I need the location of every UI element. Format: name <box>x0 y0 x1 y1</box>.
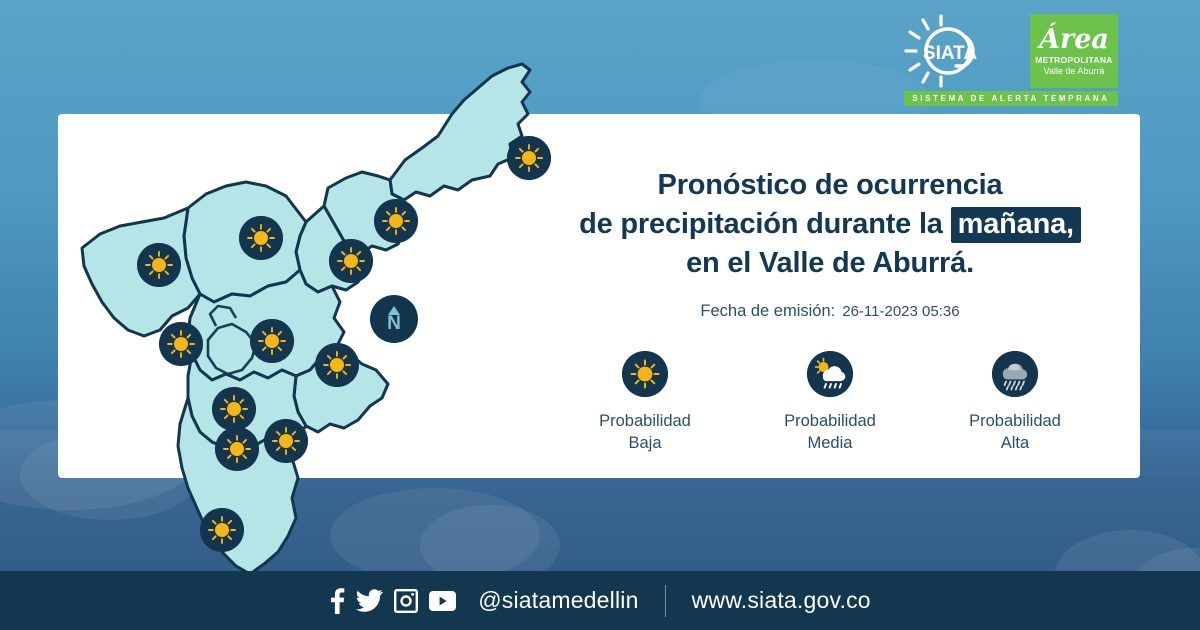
legend-item-media: Probabilidad Media <box>738 351 923 455</box>
footer-divider <box>665 585 666 617</box>
logo-group: SIATA Área METROPOLITANA Valle de Aburrá <box>904 14 1118 88</box>
siata-logo: SIATA <box>904 14 1024 88</box>
area-line1-label: METROPOLITANA <box>1035 56 1112 65</box>
forecast-panel: Pronóstico de ocurrencia de precipitació… <box>520 126 1140 476</box>
area-script-label: Área <box>1039 26 1109 53</box>
legend-item-baja: Probabilidad Baja <box>553 351 738 455</box>
youtube-icon[interactable] <box>429 591 456 611</box>
siata-wordmark: SIATA <box>923 43 977 64</box>
headline-line-1: Pronóstico de ocurrencia <box>520 166 1140 205</box>
headline-line-2: de precipitación durante la mañana, <box>520 205 1140 244</box>
emission-value: 26-11-2023 05:36 <box>842 303 959 320</box>
emission-date: Fecha de emisión: 26-11-2023 05:36 <box>520 302 1140 321</box>
footer-bar: @siatamedellin www.siata.gov.co <box>0 571 1200 630</box>
area-line2-label: Valle de Aburrá <box>1044 66 1105 76</box>
sun-icon <box>622 351 668 397</box>
social-handle[interactable]: @siatamedellin <box>478 587 638 614</box>
twitter-icon[interactable] <box>356 589 383 612</box>
legend-label-alta: Probabilidad Alta <box>969 410 1061 455</box>
headline-line-3: en el Valle de Aburrá. <box>520 244 1140 283</box>
probability-legend: Probabilidad Baja <box>520 351 1140 455</box>
legend-item-alta: Probabilidad Alta <box>923 351 1108 455</box>
website-url[interactable]: www.siata.gov.co <box>692 587 871 614</box>
social-links[interactable] <box>329 588 456 614</box>
area-metropolitana-logo: Área METROPOLITANA Valle de Aburrá <box>1030 14 1118 88</box>
legend-label-media: Probabilidad Media <box>784 410 876 455</box>
sun-cloud-rain-icon <box>807 351 853 397</box>
facebook-icon[interactable] <box>329 588 345 614</box>
legend-label-baja: Probabilidad Baja <box>599 410 691 455</box>
cloud-heavy-rain-icon <box>992 351 1038 397</box>
tagline-strip: SISTEMA DE ALERTA TEMPRANA <box>904 91 1118 106</box>
headline-line-2-text: de precipitación durante la <box>579 208 951 240</box>
instagram-icon[interactable] <box>394 589 418 613</box>
emission-label: Fecha de emisión: <box>700 302 835 321</box>
headline-highlight: mañana, <box>951 207 1081 243</box>
page-title: Pronóstico de ocurrencia de precipitació… <box>520 126 1140 283</box>
